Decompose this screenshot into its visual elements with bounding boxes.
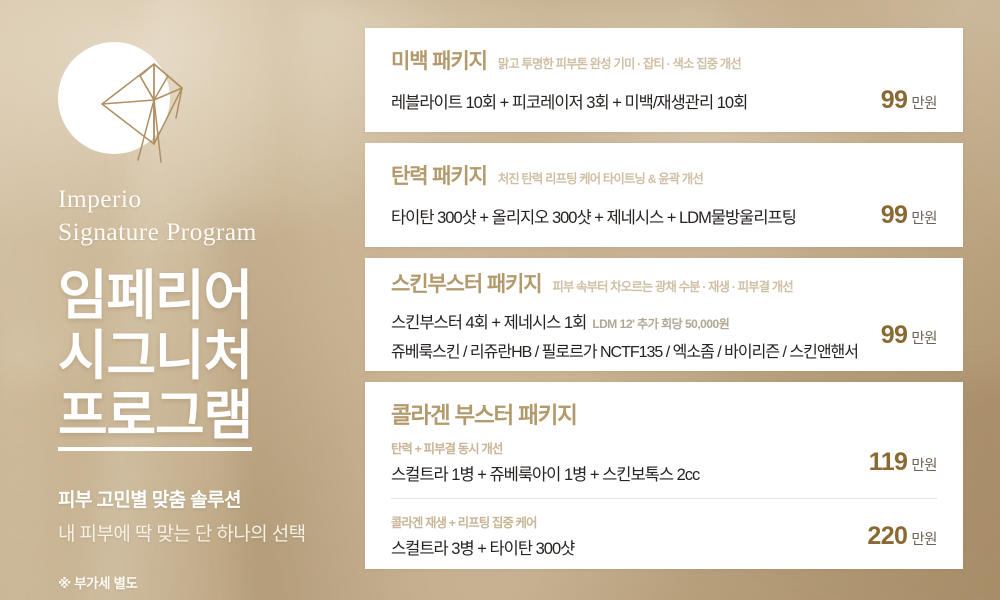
- package-option-label: 콜라겐 재생 + 리프팅 집중 케어: [391, 513, 855, 531]
- package-option-lines: 탄력 + 피부결 동시 개선 스컬트라 1병 + 쥬베룩아이 1병 + 스킨보톡…: [391, 439, 857, 485]
- package-detail-lines: 타이탄 300샷 + 올리지오 300샷 + 제네시스 + LDM물방울리프팅: [391, 204, 869, 228]
- package-subtitle: 처진 탄력 리프팅 케어 타이트닝 & 윤곽 개선: [498, 169, 703, 187]
- brand-panel: Imperio Signature Program 임페리어 시그니처 프로그램…: [0, 0, 366, 600]
- package-detail: 타이탄 300샷 + 올리지오 300샷 + 제네시스 + LDM물방울리프팅: [391, 204, 869, 228]
- package-detail-lines: 레블라이트 10회 + 피코레이저 3회 + 미백/재생관리 10회: [391, 89, 869, 113]
- price-unit: 만원: [911, 207, 937, 228]
- brand-name-line1: Imperio: [58, 182, 366, 215]
- package-detail: 레블라이트 10회 + 피코레이저 3회 + 미백/재생관리 10회: [391, 89, 869, 113]
- package-detail: 스킨부스터 4회 + 제네시스 1회LDM 12' 추가 회당 50,000원: [391, 309, 869, 333]
- package-subtitle: 피부 속부터 차오르는 광채 수분 · 재생 · 피부결 개선: [553, 277, 793, 295]
- package-header: 스킨부스터 패키지 피부 속부터 차오르는 광채 수분 · 재생 · 피부결 개…: [391, 268, 937, 298]
- promotional-poster: Imperio Signature Program 임페리어 시그니처 프로그램…: [0, 0, 1000, 600]
- package-option-lines: 콜라겐 재생 + 리프팅 집중 케어 스컬트라 3병 + 타이탄 300샷: [391, 513, 855, 559]
- brand-ko-line1: 임페리어: [58, 266, 366, 326]
- tagline-primary: 피부 고민별 맞춤 솔루션: [58, 485, 366, 512]
- package-option-detail: 스컬트라 1병 + 쥬베룩아이 1병 + 스킨보톡스 2cc: [391, 461, 857, 485]
- package-price: 99 만원: [881, 86, 937, 115]
- package-price: 220 만원: [867, 522, 937, 551]
- price-unit: 만원: [911, 327, 937, 348]
- package-price: 99 만원: [881, 201, 937, 230]
- package-header: 탄력 패키지 처진 탄력 리프팅 케어 타이트닝 & 윤곽 개선: [391, 160, 937, 190]
- price-number: 220: [867, 522, 907, 551]
- brand-ko-line3: 프로그램: [58, 386, 252, 451]
- price-unit: 만원: [911, 92, 937, 113]
- package-detail-row: 레블라이트 10회 + 피코레이저 3회 + 미백/재생관리 10회 99 만원: [391, 86, 937, 115]
- package-card[interactable]: 스킨부스터 패키지 피부 속부터 차오르는 광채 수분 · 재생 · 피부결 개…: [365, 258, 963, 371]
- package-card-list: 미백 패키지 맑고 투명한 피부톤 완성 기미 · 잡티 · 색소 집중 개선 …: [365, 0, 963, 600]
- package-option-label: 탄력 + 피부결 동시 개선: [391, 439, 857, 457]
- price-number: 99: [881, 321, 908, 350]
- package-title: 콜라겐 부스터 패키지: [391, 398, 937, 430]
- package-detail-note: LDM 12' 추가 회당 50,000원: [592, 317, 729, 331]
- package-card[interactable]: 탄력 패키지 처진 탄력 리프팅 케어 타이트닝 & 윤곽 개선 타이탄 300…: [365, 143, 963, 247]
- price-unit: 만원: [911, 454, 937, 475]
- package-title: 스킨부스터 패키지: [391, 268, 542, 298]
- package-title: 미백 패키지: [391, 45, 487, 75]
- tax-note: ※ 부가세 별도: [58, 572, 366, 592]
- package-card[interactable]: 콜라겐 부스터 패키지 탄력 + 피부결 동시 개선 스컬트라 1병 + 쥬베룩…: [365, 382, 963, 569]
- package-card[interactable]: 미백 패키지 맑고 투명한 피부톤 완성 기미 · 잡티 · 색소 집중 개선 …: [365, 28, 963, 132]
- brand-ko-line2: 시그니처: [58, 326, 366, 386]
- package-option[interactable]: 탄력 + 피부결 동시 개선 스컬트라 1병 + 쥬베룩아이 1병 + 스킨보톡…: [391, 439, 937, 485]
- tagline-secondary: 내 피부에 딱 맞는 단 하나의 선택: [58, 519, 366, 546]
- brand-ko-line3-wrap: 프로그램: [58, 386, 366, 451]
- package-option[interactable]: 콜라겐 재생 + 리프팅 집중 케어 스컬트라 3병 + 타이탄 300샷 22…: [391, 513, 937, 559]
- price-number: 99: [881, 201, 908, 230]
- package-detail-lines: 스킨부스터 4회 + 제네시스 1회LDM 12' 추가 회당 50,000원 …: [391, 309, 869, 362]
- price-number: 99: [881, 86, 908, 115]
- package-detail-main: 스킨부스터 4회 + 제네시스 1회: [391, 314, 586, 332]
- package-option-detail: 스컬트라 3병 + 타이탄 300샷: [391, 535, 855, 559]
- package-subtitle: 맑고 투명한 피부톤 완성 기미 · 잡티 · 색소 집중 개선: [498, 54, 741, 72]
- diamond-gem-icon: [58, 42, 170, 154]
- package-price: 119 만원: [869, 448, 937, 477]
- price-number: 119: [869, 448, 908, 477]
- option-divider: [391, 498, 937, 499]
- package-detail-row: 스킨부스터 4회 + 제네시스 1회LDM 12' 추가 회당 50,000원 …: [391, 309, 937, 362]
- brand-name-line2: Signature Program: [58, 215, 366, 248]
- package-price: 99 만원: [881, 321, 937, 350]
- package-title: 탄력 패키지: [391, 160, 487, 190]
- brand-name-korean: 임페리어 시그니처 프로그램: [58, 266, 366, 451]
- package-header: 미백 패키지 맑고 투명한 피부톤 완성 기미 · 잡티 · 색소 집중 개선: [391, 45, 937, 75]
- price-unit: 만원: [911, 528, 937, 549]
- package-detail-row: 타이탄 300샷 + 올리지오 300샷 + 제네시스 + LDM물방울리프팅 …: [391, 201, 937, 230]
- brand-name-english: Imperio Signature Program: [58, 182, 366, 248]
- package-detail-secondary: 쥬베룩스킨 / 리쥬란HB / 필로르가 NCTF135 / 엑소좀 / 바이리…: [391, 338, 869, 362]
